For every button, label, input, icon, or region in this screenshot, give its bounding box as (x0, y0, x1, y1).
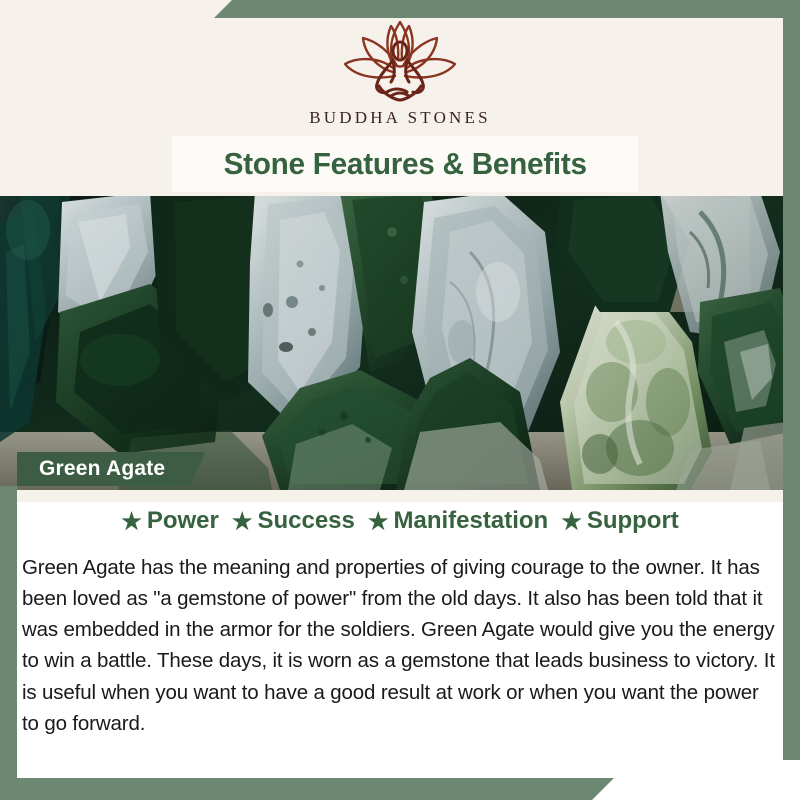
frame-right-strip (783, 18, 800, 760)
frame-left-strip (0, 486, 17, 778)
agate-stones-illustration (0, 192, 800, 490)
stone-name-label: Green Agate (39, 457, 165, 481)
stone-name-badge: Green Agate (17, 452, 205, 486)
content-top-tint (0, 490, 800, 502)
frame-top-bar (214, 0, 800, 18)
benefit-item: ★ Success (232, 507, 355, 535)
benefits-row: ★ Power ★ Success ★ Manifestation ★ Supp… (0, 507, 800, 535)
benefit-label: Power (147, 507, 219, 535)
star-icon: ★ (232, 510, 253, 533)
benefit-item: ★ Power (121, 507, 219, 535)
lotus-meditation-icon (335, 18, 465, 106)
star-icon: ★ (368, 510, 389, 533)
brand-name: BUDDHA STONES (0, 108, 800, 128)
title-banner: Stone Features & Benefits (172, 136, 638, 192)
benefit-item: ★ Manifestation (368, 507, 548, 535)
page-title: Stone Features & Benefits (223, 146, 586, 182)
benefit-label: Success (257, 507, 354, 535)
content-area: ★ Power ★ Success ★ Manifestation ★ Supp… (0, 490, 800, 778)
frame-bottom-bar (0, 778, 614, 800)
brand-logo: BUDDHA STONES (0, 18, 800, 128)
benefit-label: Support (587, 507, 679, 535)
infographic-page: BUDDHA STONES Stone Features & Benefits … (0, 0, 800, 800)
green-agate-photo (0, 192, 800, 490)
benefit-item: ★ Support (561, 507, 679, 535)
star-icon: ★ (121, 510, 142, 533)
benefit-label: Manifestation (394, 507, 549, 535)
description-paragraph: Green Agate has the meaning and properti… (22, 552, 780, 739)
star-icon: ★ (561, 510, 582, 533)
